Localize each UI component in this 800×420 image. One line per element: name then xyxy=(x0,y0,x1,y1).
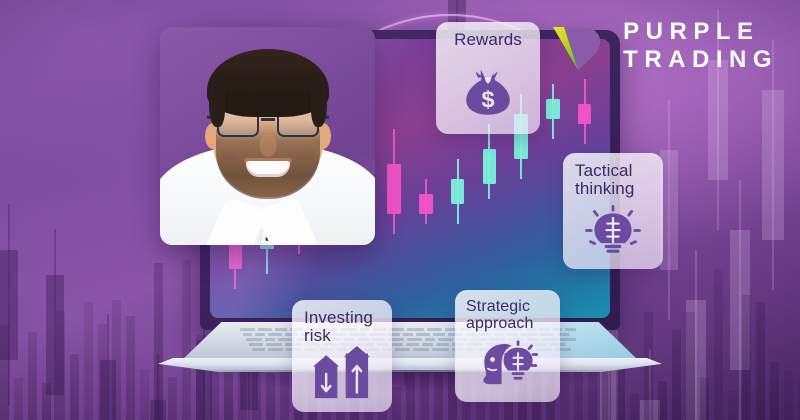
keyboard-key xyxy=(413,348,428,351)
background-bar xyxy=(112,300,121,420)
money-bag-dollar-icon: $ xyxy=(459,64,517,122)
card-rewards-title: Rewards xyxy=(448,31,528,49)
brand-name: PURPLE TRADING xyxy=(623,20,778,72)
keyboard-key xyxy=(403,333,413,336)
keyboard-key xyxy=(422,343,433,346)
background-bar xyxy=(686,312,695,420)
keyboard-key xyxy=(560,338,576,341)
candle-body xyxy=(578,104,591,124)
card-investing-risk[interactable]: Investing risk xyxy=(292,300,392,412)
keyboard-key xyxy=(265,338,275,341)
keyboard-key xyxy=(258,328,271,331)
keyboard-key xyxy=(433,333,445,336)
keyboard-key xyxy=(416,333,431,336)
keyboard-key xyxy=(425,338,434,341)
card-tactical-title-line1: Tactical xyxy=(563,162,663,180)
background-bar xyxy=(140,369,149,420)
candle-body xyxy=(483,149,496,184)
background-bar xyxy=(714,269,723,420)
shirt-collar-left xyxy=(196,198,269,245)
laptop-shadow xyxy=(190,370,630,392)
background-bar xyxy=(84,302,93,420)
background-bar xyxy=(70,354,79,420)
keyboard-key xyxy=(427,328,442,331)
background-bar xyxy=(672,330,681,420)
background-bar xyxy=(28,332,37,420)
keyboard-key xyxy=(246,338,262,341)
keyboard-key xyxy=(255,333,265,336)
background-bar xyxy=(56,311,65,420)
candle-body xyxy=(419,194,432,214)
background-bar xyxy=(14,378,23,420)
head-lightbulb-icon xyxy=(477,340,539,390)
card-tactical-title-line2: thinking xyxy=(563,180,663,198)
up-down-arrows-bars-icon xyxy=(313,346,371,400)
background-bar xyxy=(742,295,751,420)
card-strategic-approach[interactable]: Strategic approach xyxy=(455,290,560,402)
keyboard-key xyxy=(432,348,449,351)
keyboard-key xyxy=(268,348,284,351)
background-bar xyxy=(784,370,793,420)
brand-logo[interactable]: PURPLE TRADING xyxy=(550,18,778,74)
face xyxy=(212,57,324,197)
card-risk-title-line1: Investing xyxy=(292,309,392,327)
background-bar xyxy=(770,362,779,420)
keyboard-key xyxy=(436,343,449,346)
candle-body xyxy=(546,99,559,119)
keyboard-key xyxy=(395,348,410,351)
smile-teeth xyxy=(246,161,290,177)
background-bar xyxy=(42,383,51,420)
brand-name-line1: PURPLE xyxy=(623,20,778,44)
brain-lightbulb-icon xyxy=(583,205,643,257)
keyboard-key xyxy=(268,333,282,336)
keyboard-key xyxy=(391,343,403,346)
card-strategic-title-line2: approach xyxy=(455,316,560,333)
keyboard-key xyxy=(243,333,252,336)
background-bar xyxy=(728,391,737,420)
card-strategic-title-line1: Strategic xyxy=(455,299,560,316)
keyboard-key xyxy=(407,338,423,341)
svg-text:$: $ xyxy=(481,87,494,113)
keyboard-key xyxy=(252,348,265,351)
keyboard-key xyxy=(240,328,255,331)
keyboard-key xyxy=(249,343,263,346)
glasses-bridge xyxy=(261,118,275,121)
hair-side-left xyxy=(209,79,225,127)
candle-body xyxy=(451,179,464,204)
background-bar xyxy=(0,325,9,420)
hero-banner: Rewards $ Tactical thinking xyxy=(0,0,800,420)
presenter-portrait xyxy=(160,27,375,245)
card-tactical-thinking[interactable]: Tactical thinking xyxy=(563,153,663,269)
card-risk-title-line2: risk xyxy=(292,327,392,345)
purple-trading-droplet-logo-icon xyxy=(550,18,606,74)
laptop-base xyxy=(150,322,670,388)
background-bar xyxy=(756,302,765,420)
background-bar xyxy=(98,324,107,420)
card-rewards[interactable]: Rewards $ xyxy=(436,22,540,134)
keyboard-key xyxy=(565,328,576,331)
background-bar xyxy=(700,377,709,420)
keyboard-key xyxy=(406,343,419,346)
keyboard-key xyxy=(275,328,287,331)
keyboard-key xyxy=(266,343,282,346)
hair-side-right xyxy=(311,79,327,127)
brand-name-line2: TRADING xyxy=(623,48,778,72)
background-bar xyxy=(126,316,135,420)
keyboard-key xyxy=(407,328,424,331)
candle-body xyxy=(387,164,400,214)
keyboard-key xyxy=(438,338,453,341)
